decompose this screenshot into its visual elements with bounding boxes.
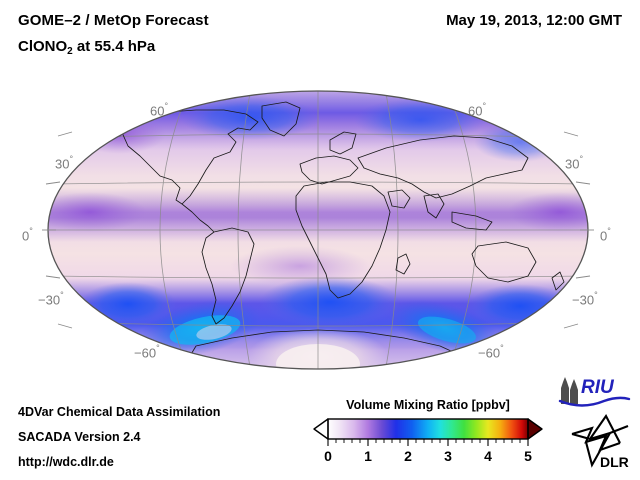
riu-logo: RIU (556, 374, 632, 408)
field-blob-blue-southeast (468, 284, 572, 328)
degree-symbol: ° (482, 101, 486, 111)
map-svg (0, 80, 640, 380)
degree-symbol: ° (164, 101, 168, 111)
degree-symbol: ° (69, 154, 73, 164)
footer-line-url[interactable]: http://wdc.dlr.de (18, 455, 114, 469)
lat-label-right-3: −30° (572, 291, 598, 307)
riu-wordmark: RIU (581, 377, 615, 398)
colorbar: Volume Mixing Ratio [ppbv] 012345 (312, 398, 544, 476)
colorbar-tick-labels: 012345 (312, 448, 544, 468)
colorbar-title: Volume Mixing Ratio [ppbv] (312, 398, 544, 412)
lat-label-right-1: 30° (565, 155, 583, 171)
lat-tick-left-60 (58, 132, 72, 136)
colorbar-max-arrow-cap (528, 419, 542, 439)
degree-symbol: ° (579, 154, 583, 164)
lat-label-left-1: 30° (55, 155, 73, 171)
lat-label-left-3: −30° (38, 291, 64, 307)
colorbar-graphic (312, 417, 544, 447)
colorbar-tick-label-0: 0 (324, 448, 332, 464)
riu-spire-icon (561, 377, 578, 404)
lat-tick-left-30 (46, 182, 60, 184)
dlr-logo: DLR (566, 412, 632, 470)
degree-symbol: ° (500, 343, 504, 353)
lat-label-value: −30 (572, 292, 594, 307)
lat-tick-left-m60 (58, 324, 72, 328)
page-title: GOME–2 / MetOp Forecast (18, 12, 209, 29)
degree-symbol: ° (607, 226, 611, 236)
lat-label-right-4: −60° (478, 344, 504, 360)
lat-label-value: 30 (565, 156, 579, 171)
dlr-wordmark: DLR (600, 454, 629, 470)
lat-label-value: −30 (38, 292, 60, 307)
forecast-timestamp: May 19, 2013, 12:00 GMT (446, 12, 622, 29)
lat-label-value: 30 (55, 156, 69, 171)
footer-line-method: 4DVar Chemical Data Assimilation (18, 405, 220, 419)
lat-label-left-4: −60° (134, 344, 160, 360)
lat-label-value: −60 (134, 345, 156, 360)
lat-tick-right-m60 (564, 324, 578, 328)
colorbar-min-arrow-cap (314, 419, 328, 439)
degree-symbol: ° (29, 226, 33, 236)
lat-tick-right-60 (564, 132, 578, 136)
lat-label-left-2: 0° (22, 227, 33, 243)
species-name: ClONO (18, 38, 67, 55)
field-blob-blue-east-asia (474, 122, 566, 162)
colorbar-tick-label-2: 2 (404, 448, 412, 464)
colorbar-tick-label-1: 1 (364, 448, 372, 464)
colorbar-tick-marks (328, 439, 528, 446)
colorbar-tick-label-5: 5 (524, 448, 532, 464)
map-data-field (34, 80, 612, 380)
field-blob-violet-east-equatorial (508, 192, 612, 232)
lat-tick-left-m30 (46, 276, 60, 278)
colorbar-tick-label-3: 3 (444, 448, 452, 464)
field-blob-violet-southern-midlat (230, 246, 370, 286)
lat-label-value: 60 (150, 103, 164, 118)
mollweide-map (0, 80, 640, 380)
lat-label-right-0: 60° (468, 102, 486, 118)
colorbar-tick-label-4: 4 (484, 448, 492, 464)
lat-tick-right-30 (576, 182, 590, 184)
lat-label-right-2: 0° (600, 227, 611, 243)
lat-label-value: −60 (478, 345, 500, 360)
degree-symbol: ° (156, 343, 160, 353)
lat-label-value: 60 (468, 103, 482, 118)
field-blob-blue-southwest (80, 282, 176, 326)
lat-tick-right-m30 (576, 276, 590, 278)
field-blob-blue-north-america (180, 96, 320, 140)
lat-label-left-0: 60° (150, 102, 168, 118)
species-subtitle: ClONO2 at 55.4 hPa (18, 38, 155, 55)
degree-symbol: ° (594, 290, 598, 300)
species-level: at 55.4 hPa (73, 38, 156, 55)
colorbar-gradient-body (328, 419, 528, 439)
degree-symbol: ° (60, 290, 64, 300)
species-subscript: 2 (67, 46, 73, 57)
footer-line-version: SACADA Version 2.4 (18, 430, 141, 444)
